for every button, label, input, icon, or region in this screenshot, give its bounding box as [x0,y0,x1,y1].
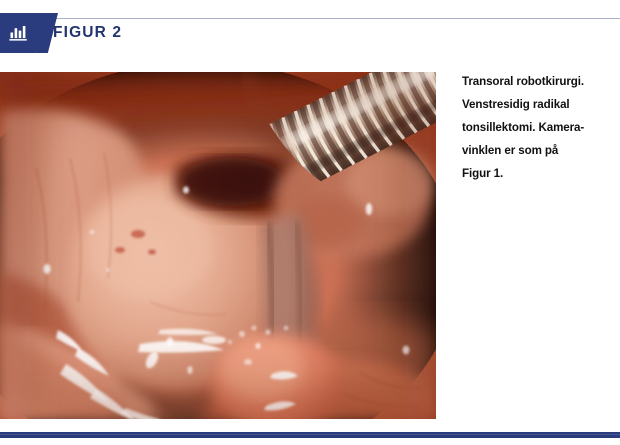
figure-title: FIGUR 2 [53,13,122,53]
caption-line: Transoral robotkirurgi. [462,70,612,93]
bar-chart-icon [9,24,28,42]
endoscopic-surgical-photo [0,72,436,419]
caption-line: vinklen er som på [462,139,612,162]
caption-line: Venstresidig radikal [462,93,612,116]
caption-line: tonsillektomi. Kamera- [462,116,612,139]
caption-line: Figur 1. [462,162,612,185]
figure-caption: Transoral robotkirurgi. Venstresidig rad… [462,70,612,185]
bottom-accent-bar [0,432,620,438]
figure-header: FIGUR 2 [0,13,300,53]
bottom-accent-bar-highlight [0,434,620,435]
